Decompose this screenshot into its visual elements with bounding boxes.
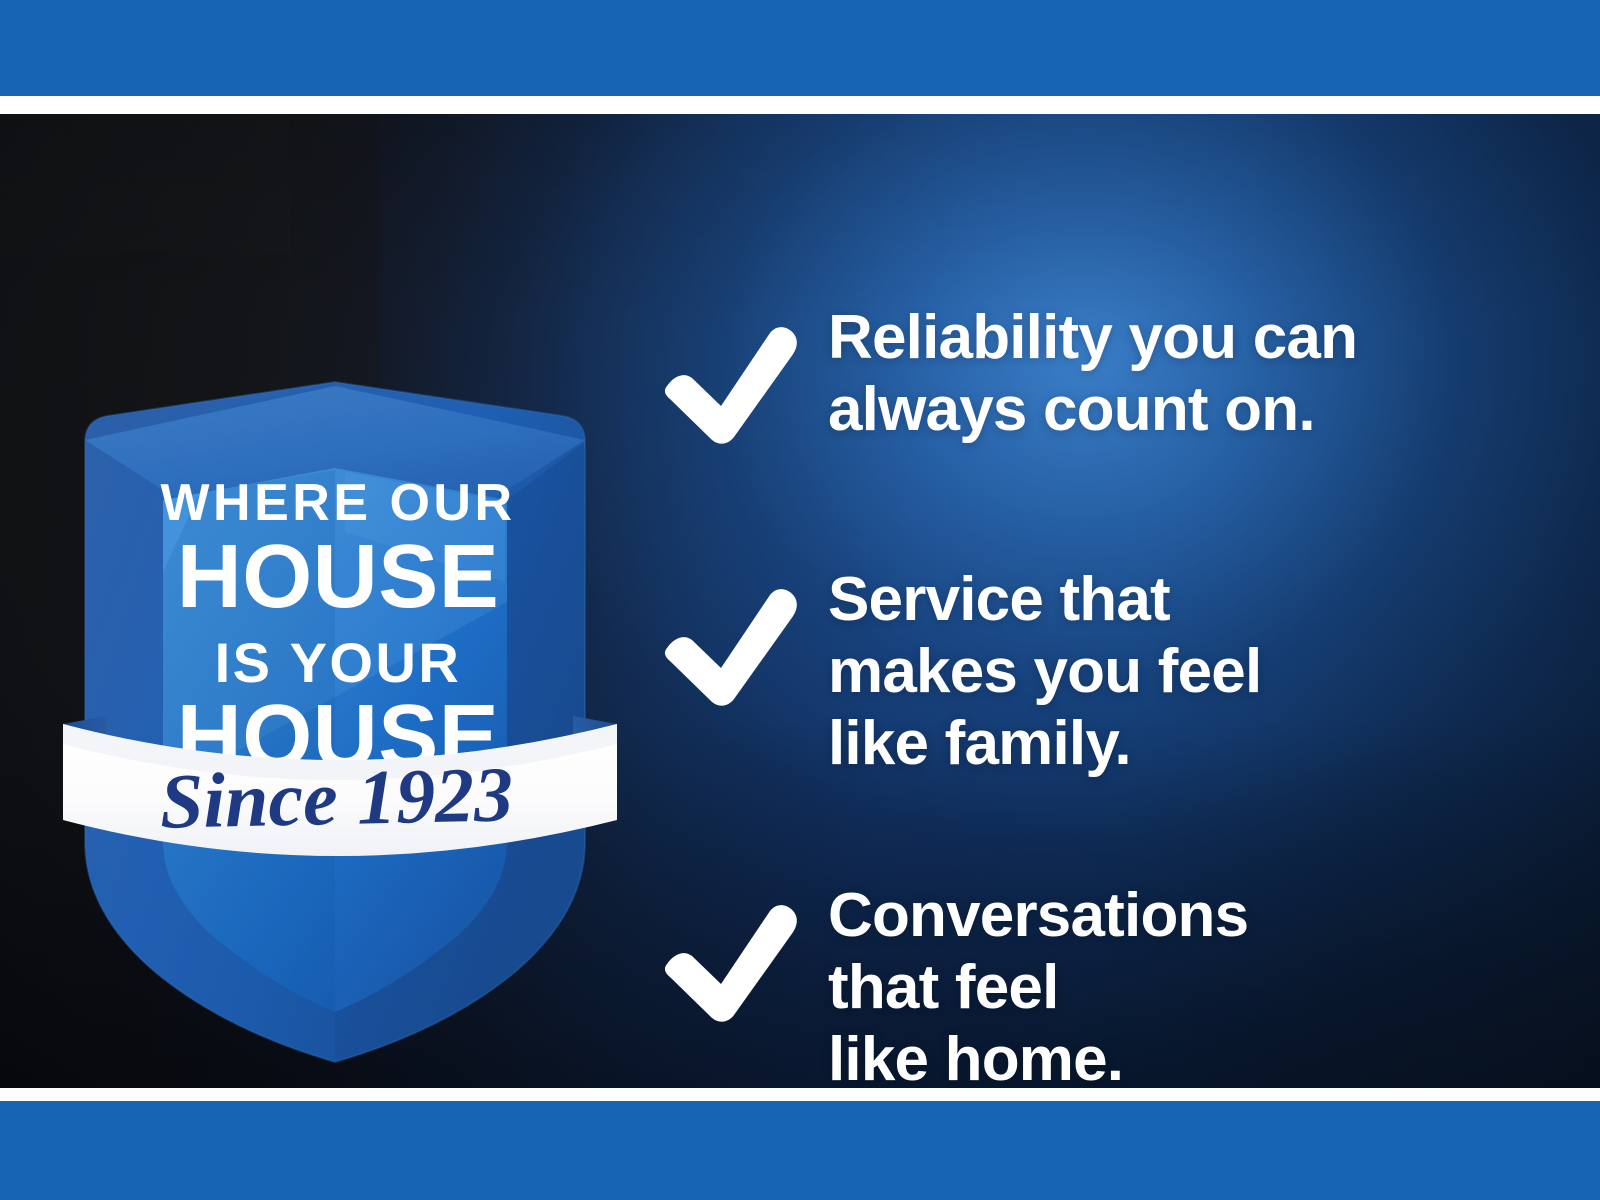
list-item-text: Conversations that feel like home. (828, 880, 1560, 1088)
main-panel: WHERE OUR HOUSE IS YOUR HOUSE Since 1923 (0, 114, 1600, 1088)
wordmark-line-3: IS YOUR (215, 631, 462, 694)
bottom-divider-rule (0, 1088, 1600, 1101)
panel-noise-texture (0, 114, 290, 254)
list-item-text: Reliability you can always count on. (828, 302, 1560, 446)
check-mark-icon (660, 564, 828, 710)
list-item: Service that makes you feel like family. (660, 564, 1560, 780)
check-mark-icon (660, 880, 828, 1026)
list-item: Reliability you can always count on. (660, 302, 1560, 448)
wordmark-line-1: WHERE OUR (160, 474, 515, 532)
company-shield-logo: WHERE OUR HOUSE IS YOUR HOUSE Since 1923 (45, 372, 635, 1072)
check-mark-icon (660, 302, 828, 448)
top-divider-rule (0, 96, 1600, 114)
bottom-brand-bar (0, 1101, 1600, 1200)
list-item-text: Service that makes you feel like family. (828, 564, 1560, 780)
ribbon-script-text: Since 1923 (159, 750, 514, 844)
top-brand-bar (0, 0, 1600, 96)
promo-graphic-canvas: WHERE OUR HOUSE IS YOUR HOUSE Since 1923 (0, 0, 1600, 1200)
wordmark-line-2: HOUSE (177, 527, 500, 627)
benefits-list: Reliability you can always count on. Ser… (660, 302, 1560, 1088)
list-item: Conversations that feel like home. (660, 880, 1560, 1088)
